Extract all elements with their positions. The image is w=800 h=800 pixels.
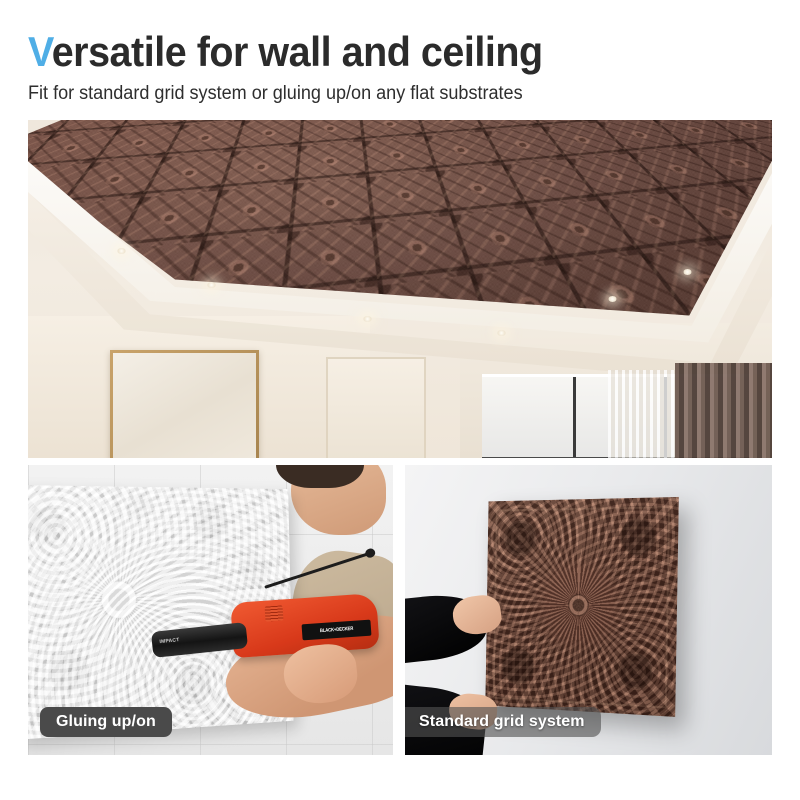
brand-label: BLACK+DECKER — [320, 625, 354, 633]
page-subtitle: Fit for standard grid system or gluing u… — [28, 83, 735, 106]
headline-accent-letter: V — [28, 28, 52, 75]
caption-badge-gluing: Gluing up/on — [40, 707, 172, 737]
gluing-photo: BLACK+DECKER IMPACT Gluing up/on — [28, 465, 393, 755]
caption-text: Gluing up/on — [56, 713, 156, 731]
sheer-curtain — [608, 370, 675, 458]
wall-panel-molding — [326, 357, 427, 458]
grid-system-photo: Standard grid system — [405, 465, 772, 755]
barrel-label: IMPACT — [159, 638, 180, 646]
recessed-light — [608, 296, 617, 302]
headline-rest: ersatile for wall and ceiling — [52, 28, 543, 75]
caption-badge-grid-system: Standard grid system — [405, 707, 601, 737]
caption-text: Standard grid system — [419, 713, 585, 731]
bronze-ornate-tile — [485, 497, 678, 717]
product-feature-graphic: Versatile for wall and ceiling Fit for s… — [0, 0, 800, 800]
tile-border — [492, 506, 670, 708]
caulk-gun-vent — [265, 605, 284, 621]
room-interior — [28, 120, 772, 458]
recessed-light — [683, 269, 692, 275]
page-title: Versatile for wall and ceiling — [28, 30, 727, 74]
ceiling-installation-photo — [28, 120, 772, 458]
curtain — [675, 363, 772, 458]
header: Versatile for wall and ceiling Fit for s… — [28, 30, 772, 106]
recessed-light — [207, 282, 216, 288]
recessed-light — [363, 316, 372, 322]
recessed-light — [497, 330, 506, 336]
framed-artwork — [110, 350, 259, 458]
